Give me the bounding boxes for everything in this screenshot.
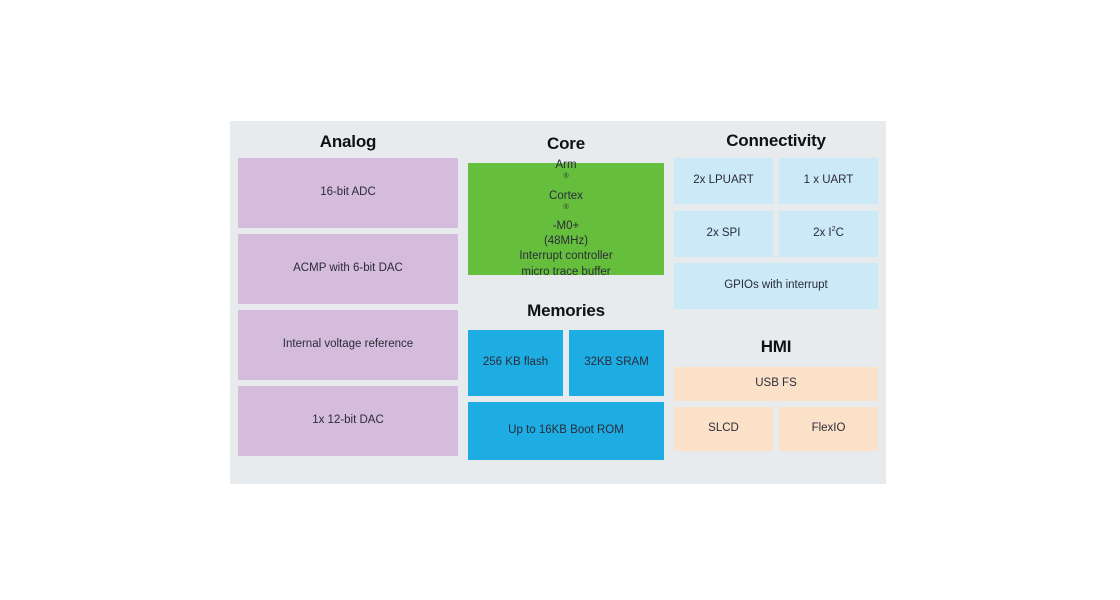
hmi-block-flexio[interactable]: FlexIO [779,407,878,451]
core-line-interrupt-controller: Interrupt controller [519,249,612,264]
connectivity-block-i2c[interactable]: 2x I2C [779,211,878,257]
core-arm-text: Arm [519,158,612,173]
i2c-prefix: 2x I [813,227,832,239]
analog-section-heading: Analog [238,132,458,152]
connectivity-hmi-column: Connectivity 2x LPUART 1 x UART 2x SPI 2… [674,121,878,484]
core-memories-column: Core Arm® Cortex®-M0+ (48MHz) Interrupt … [468,121,664,484]
core-cortex-text: Cortex [519,189,612,204]
core-line-cpu-name: Arm® Cortex®-M0+ [519,158,612,234]
memory-block-flash[interactable]: 256 KB flash [468,330,563,396]
hmi-block-usb-fs[interactable]: USB FS [674,367,878,401]
i2c-suffix: C [836,227,844,239]
core-block-cpu[interactable]: Arm® Cortex®-M0+ (48MHz) Interrupt contr… [468,163,664,275]
hmi-block-slcd[interactable]: SLCD [674,407,773,451]
core-line-trace-buffer: micro trace buffer [519,265,612,280]
connectivity-row-uart: 2x LPUART 1 x UART [674,158,878,204]
analog-block-acmp[interactable]: ACMP with 6-bit DAC [238,234,458,304]
core-line-frequency: (48MHz) [519,234,612,249]
memory-block-sram[interactable]: 32KB SRAM [569,330,664,396]
core-model-text: -M0+ [519,219,612,234]
registered-mark-icon: ® [563,203,568,211]
connectivity-i2c-text: 2x I2C [813,226,844,241]
memories-top-row: 256 KB flash 32KB SRAM [468,330,664,396]
memory-block-boot-rom[interactable]: Up to 16KB Boot ROM [468,402,664,460]
registered-mark-icon: ® [563,173,568,181]
analog-block-adc[interactable]: 16-bit ADC [238,158,458,228]
analog-block-dac[interactable]: 1x 12-bit DAC [238,386,458,456]
connectivity-block-lpuart[interactable]: 2x LPUART [674,158,773,204]
core-section-heading: Core [468,134,664,154]
connectivity-block-uart[interactable]: 1 x UART [779,158,878,204]
core-block-text: Arm® Cortex®-M0+ (48MHz) Interrupt contr… [519,158,612,279]
connectivity-section-heading: Connectivity [674,131,878,151]
connectivity-row-spi-i2c: 2x SPI 2x I2C [674,211,878,257]
hmi-row-slcd-flexio: SLCD FlexIO [674,407,878,451]
memories-section-heading: Memories [468,301,664,321]
connectivity-block-spi[interactable]: 2x SPI [674,211,773,257]
connectivity-block-gpio[interactable]: GPIOs with interrupt [674,263,878,309]
analog-block-voltage-reference[interactable]: Internal voltage reference [238,310,458,380]
hmi-section-heading: HMI [674,337,878,357]
analog-block-list: 16-bit ADC ACMP with 6-bit DAC Internal … [238,158,458,456]
mcu-block-diagram-panel: Analog 16-bit ADC ACMP with 6-bit DAC In… [230,121,886,484]
analog-column: Analog 16-bit ADC ACMP with 6-bit DAC In… [238,121,458,484]
